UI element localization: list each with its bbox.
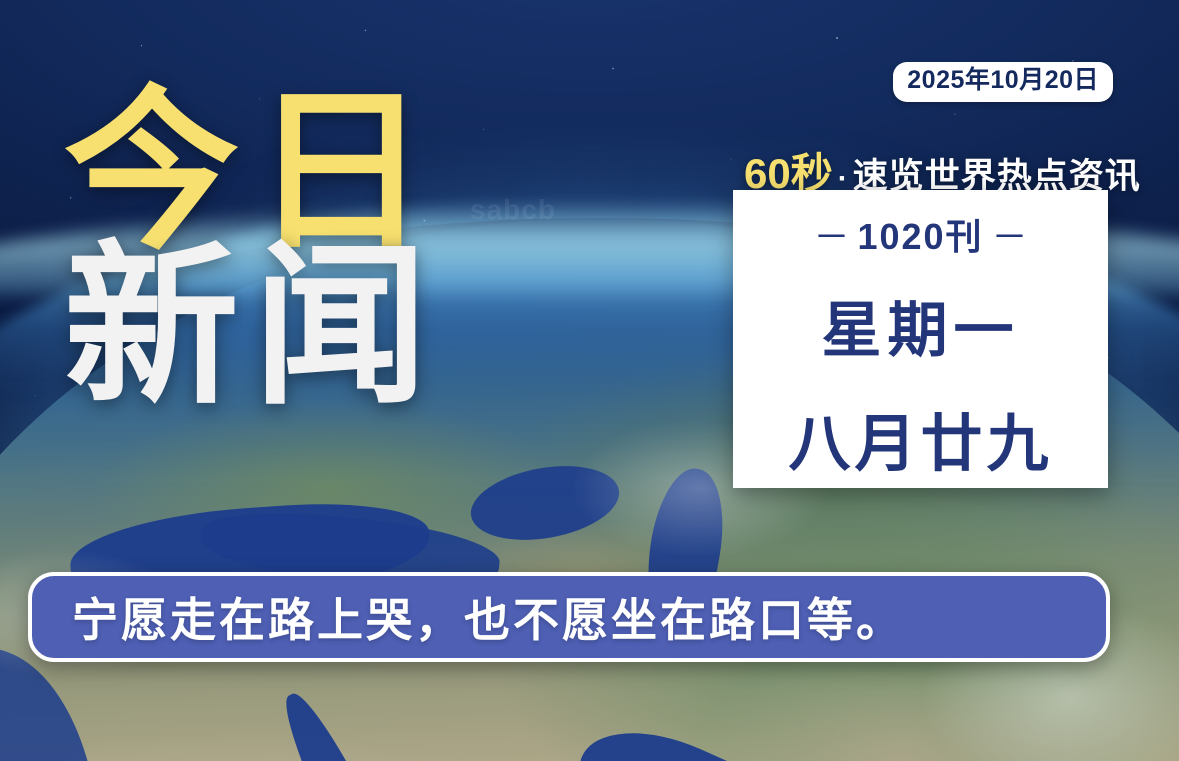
issue-line: －1020刊－ [805,208,1035,260]
info-card: －1020刊－ 星期一 八月廿九 [733,190,1108,488]
issue-number: 1020刊 [857,216,983,257]
date-badge: 2025年10月20日 [893,62,1113,102]
quote-text: 宁愿走在路上哭，也不愿坐在路口等。 [32,584,905,650]
title-line-news: 新闻 [64,247,442,408]
quote-banner: 宁愿走在路上哭，也不愿坐在路口等。 [28,572,1110,662]
watermark: sabcb [470,194,556,226]
lunar-date-label: 八月廿九 [788,393,1052,483]
page-title: 今日 新闻 [64,92,442,408]
news-poster: sabcb 2025年10月20日 今日 新闻 60秒·速览世界热点资讯 －10… [0,0,1179,761]
weekday-label: 星期一 [822,282,1020,369]
issue-dash-left: － [805,216,857,257]
issue-dash-right: － [984,216,1036,257]
